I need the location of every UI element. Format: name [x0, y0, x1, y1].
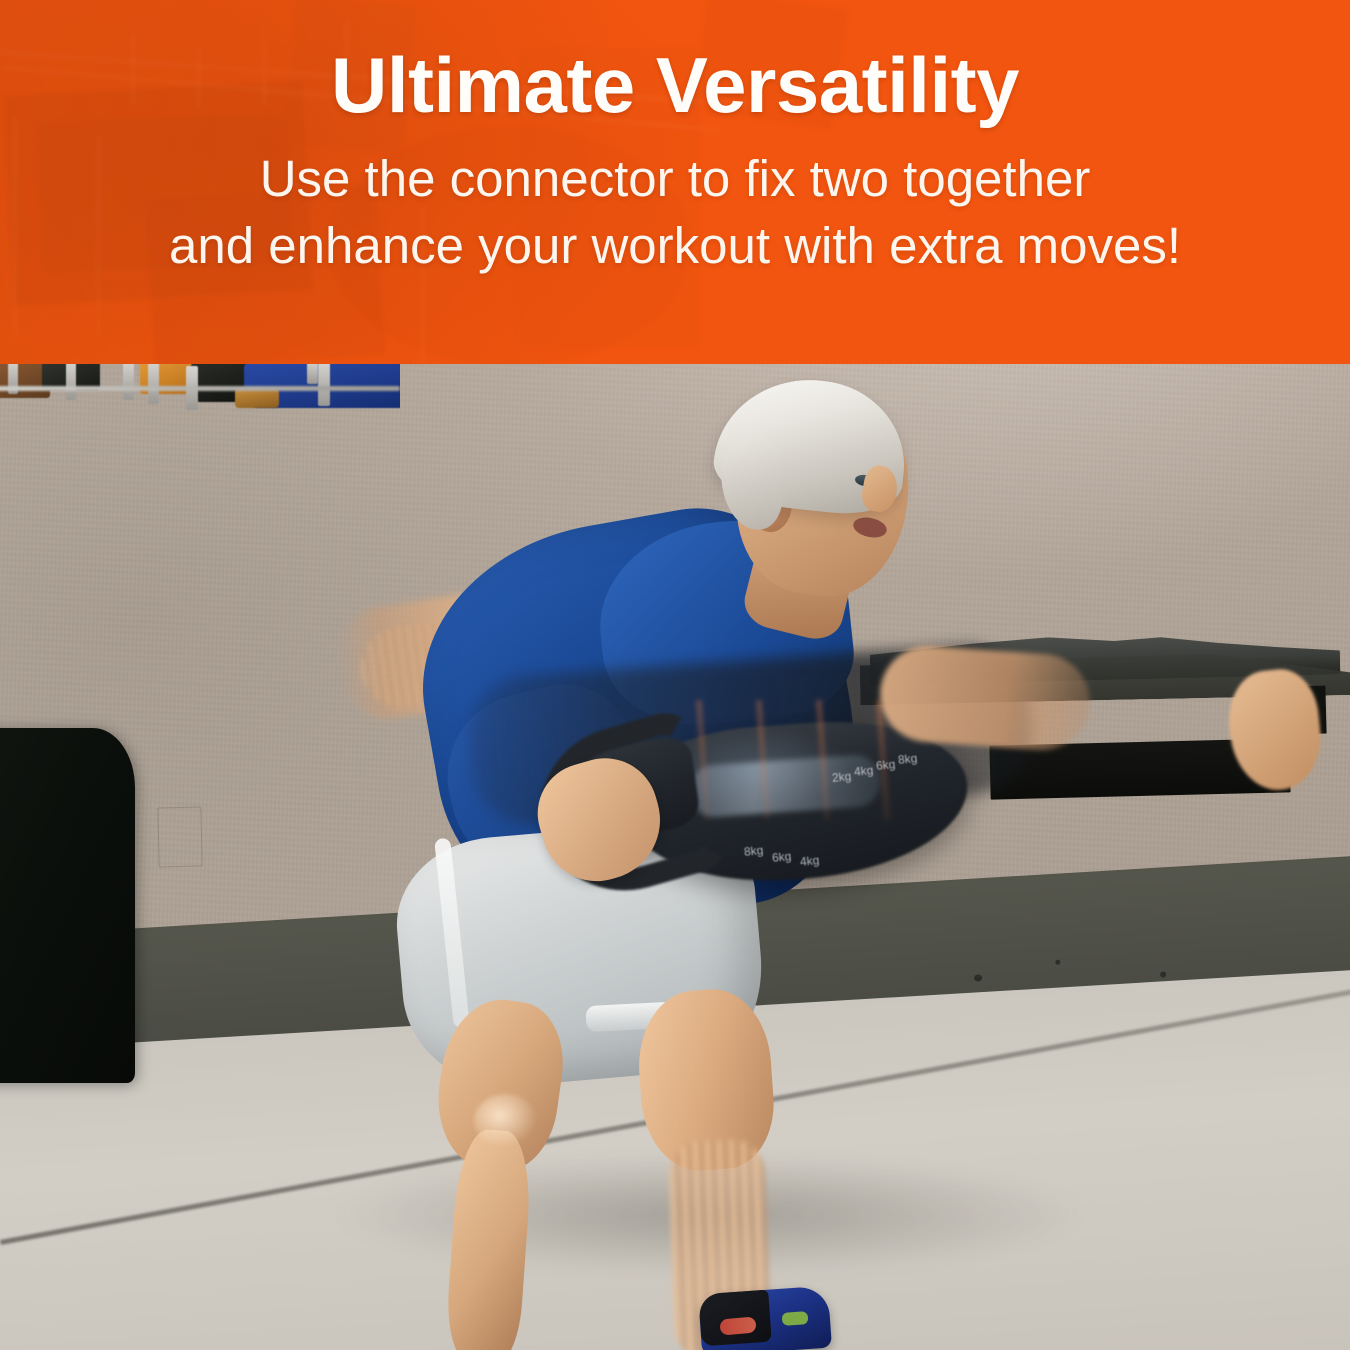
- banner-subtitle-line-2: and enhance your workout with extra move…: [0, 212, 1350, 279]
- right-forearm-motion-blur: [877, 643, 1093, 753]
- right-hand: [1224, 666, 1326, 795]
- aqua-bag-mark-3: 4kg: [853, 763, 874, 779]
- banner-subtitle-line-1: Use the connector to fix two together: [0, 145, 1350, 212]
- left-shin: [444, 1128, 534, 1350]
- banner-text-block: Ultimate Versatility Use the connector t…: [0, 0, 1350, 279]
- aqua-bag-mark-7: 4kg: [799, 853, 820, 869]
- aqua-bag-mark-2: 6kg: [875, 757, 896, 773]
- aqua-bag-mark-4: 2kg: [831, 769, 852, 785]
- aqua-bag-mark-1: 8kg: [897, 751, 918, 767]
- banner-subtitle: Use the connector to fix two together an…: [0, 127, 1350, 280]
- promo-poster: 8kg 6kg 4kg 2kg 8kg 6kg 4kg: [0, 0, 1350, 1350]
- aqua-bag-mark-5: 8kg: [743, 843, 764, 859]
- knee-highlight: [474, 1094, 538, 1148]
- shoe-accent-green: [782, 1311, 809, 1326]
- aqua-bag-mark-6: 6kg: [771, 849, 792, 865]
- banner-title: Ultimate Versatility: [0, 0, 1350, 127]
- headline-banner: Ultimate Versatility Use the connector t…: [0, 0, 1350, 364]
